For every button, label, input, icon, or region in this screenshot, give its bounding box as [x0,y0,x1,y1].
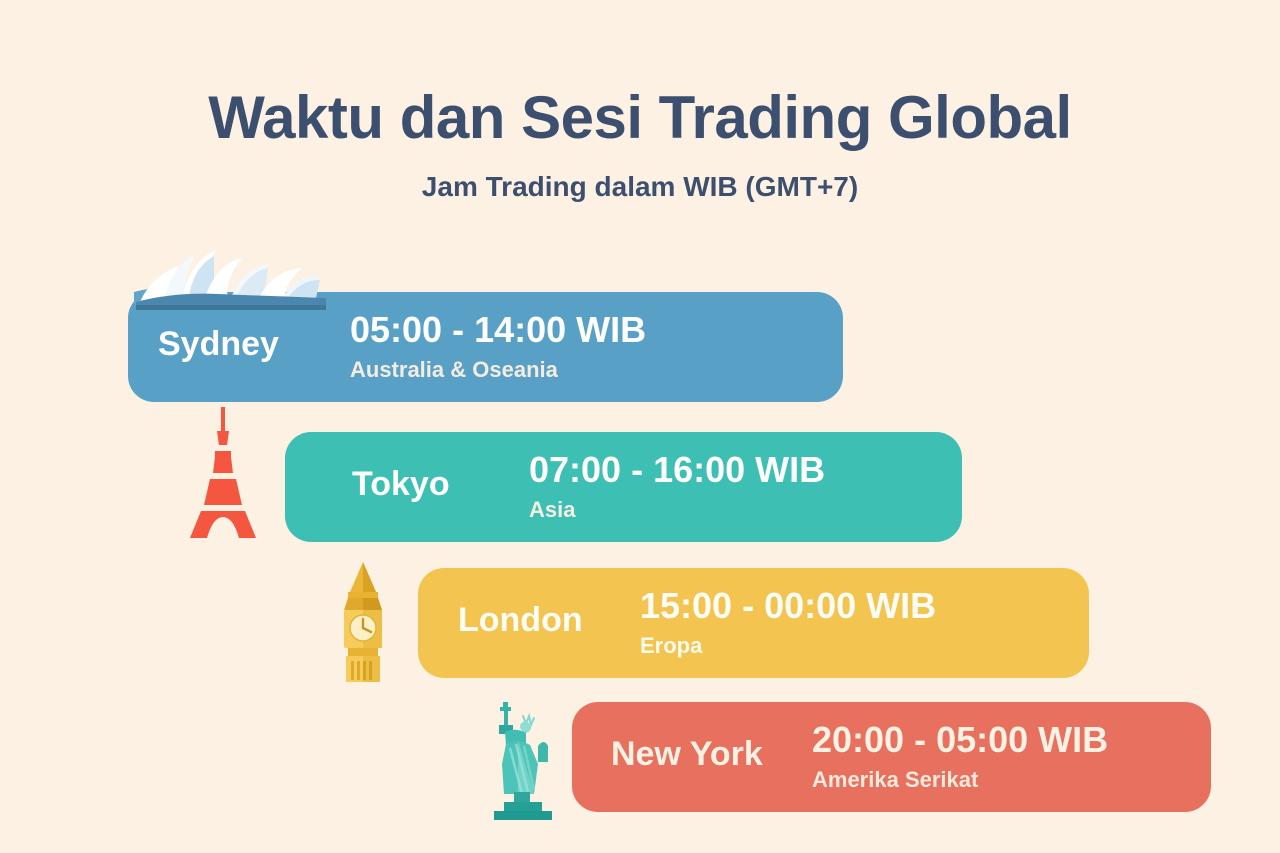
session-time-tokyo: 07:00 - 16:00 WIB [529,452,825,488]
page-title: Waktu dan Sesi Trading Global [0,86,1280,149]
sydney-opera-house-icon [130,238,330,310]
session-time-london: 15:00 - 00:00 WIB [640,588,936,624]
header: Waktu dan Sesi Trading Global Jam Tradin… [0,86,1280,203]
session-region-tokyo: Asia [529,499,825,521]
session-region-london: Eropa [640,635,936,657]
session-bar-tokyo[interactable]: Tokyo 07:00 - 16:00 WIB Asia [285,432,962,542]
page-subtitle: Jam Trading dalam WIB (GMT+7) [0,171,1280,203]
session-time-sydney: 05:00 - 14:00 WIB [350,312,646,348]
trading-sessions-infographic: Waktu dan Sesi Trading Global Jam Tradin… [0,0,1280,853]
city-label-new-york: New York [611,735,763,774]
session-time-new-york: 20:00 - 05:00 WIB [812,722,1108,758]
tokyo-tower-icon [186,405,260,540]
city-label-tokyo: Tokyo [352,465,450,504]
session-bar-london[interactable]: London 15:00 - 00:00 WIB Eropa [418,568,1089,678]
city-label-london: London [458,601,583,640]
big-ben-icon [332,562,394,684]
session-region-new-york: Amerika Serikat [812,769,1108,791]
session-region-sydney: Australia & Oseania [350,359,646,381]
session-bar-new-york[interactable]: New York 20:00 - 05:00 WIB Amerika Serik… [572,702,1211,812]
city-label-sydney: Sydney [158,325,279,364]
statue-of-liberty-icon [482,698,568,823]
